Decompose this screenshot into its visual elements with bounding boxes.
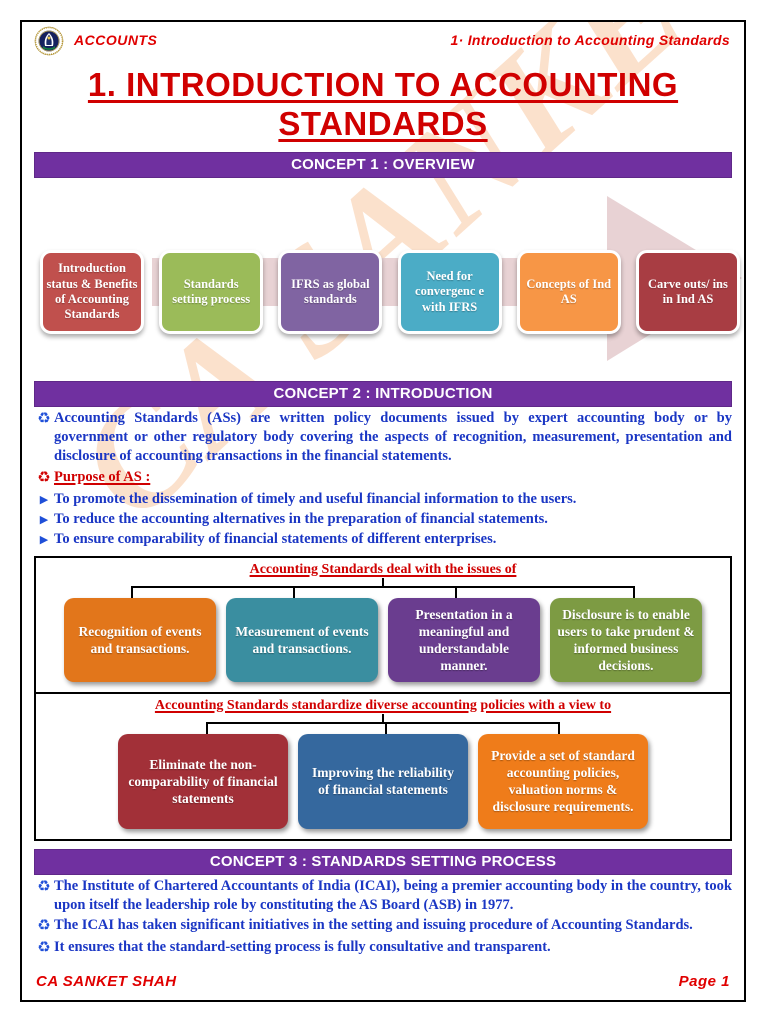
tree-box-label: Measurement of events and transactions. [233,623,371,657]
overview-box[interactable]: Concepts of Ind AS [517,250,621,334]
tree-box-row: Eliminate the non-comparability of finan… [36,734,730,839]
tree-connector [36,714,730,734]
page-frame: CA SANKET SHAH ACCOUNTS 1· Introduction … [20,20,746,1002]
tree-box-label: Eliminate the non-comparability of finan… [125,756,281,807]
overview-box[interactable]: Standards setting process [159,250,263,334]
overview-box[interactable]: IFRS as global standards [278,250,382,334]
list-item-text: To reduce the accounting alternatives in… [54,510,732,529]
tree-panel-issues: Accounting Standards deal with the issue… [34,556,732,694]
list-item: ♻ Purpose of AS : [34,468,732,489]
page-title-line2: STANDARDS [278,105,487,142]
tree-box[interactable]: Presentation in a meaningful and underst… [388,598,540,682]
overview-box-label: Introduction status & Benefits of Accoun… [46,261,138,322]
header-subject-label: ACCOUNTS [74,32,157,48]
tree-box-label: Disclosure is to enable users to take pr… [557,606,695,674]
page-title-line1: 1. INTRODUCTION TO ACCOUNTING [88,66,678,103]
tree-connector [36,578,730,598]
icai-logo-icon [34,26,64,56]
header-chapter-label: 1· Introduction to Accounting Standards [450,32,730,48]
list-item-text: Purpose of AS : [54,468,732,487]
tree-box[interactable]: Measurement of events and transactions. [226,598,378,682]
list-item-text: To promote the dissemination of timely a… [54,490,732,509]
tree-box-label: Recognition of events and transactions. [71,623,209,657]
list-item: ▶ To promote the dissemination of timely… [34,490,732,509]
overview-box-label: Need for convergenc e with IFRS [404,269,496,315]
pen-bullet-icon: ♻ [34,938,54,959]
overview-box-label: Standards setting process [165,277,257,308]
tree-box[interactable]: Eliminate the non-comparability of finan… [118,734,288,829]
page-content: ACCOUNTS 1· Introduction to Accounting S… [22,28,744,959]
list-item-text: The Institute of Chartered Accountants o… [54,877,732,916]
concept2-banner: CONCEPT 2 : INTRODUCTION [34,381,732,407]
list-item: ▶ To reduce the accounting alternatives … [34,510,732,529]
triangle-bullet-icon: ▶ [34,530,54,548]
list-item: ♻ It ensures that the standard-setting p… [34,938,732,959]
page-footer: CA SANKET SHAH Page 1 [36,973,730,990]
concept1-banner: CONCEPT 1 : OVERVIEW [34,152,732,178]
concept3-banner: CONCEPT 3 : STANDARDS SETTING PROCESS [34,849,732,875]
page-title: 1. INTRODUCTION TO ACCOUNTING STANDARDS [50,66,716,144]
list-item: ♻ The ICAI has taken significant initiat… [34,916,732,937]
tree-heading: Accounting Standards deal with the issue… [36,558,730,578]
list-item: ♻ The Institute of Chartered Accountants… [34,877,732,916]
concept3-text-block: ♻ The Institute of Chartered Accountants… [34,877,732,959]
overview-box[interactable]: Introduction status & Benefits of Accoun… [40,250,144,334]
pen-bullet-icon: ♻ [34,468,54,489]
overview-box[interactable]: Carve outs/ ins in Ind AS [636,250,740,334]
footer-page-number: Page 1 [679,973,730,990]
list-item-text: To ensure comparability of financial sta… [54,530,732,549]
tree-heading: Accounting Standards standardize diverse… [36,694,730,714]
page-header: ACCOUNTS 1· Introduction to Accounting S… [32,28,734,58]
pen-bullet-icon: ♻ [34,409,54,430]
tree-box-row: Recognition of events and transactions. … [36,598,730,692]
concept2-text-block: ♻ Accounting Standards (ASs) are written… [34,409,732,550]
tree-box-label: Presentation in a meaningful and underst… [395,606,533,674]
list-item: ♻ Accounting Standards (ASs) are written… [34,409,732,467]
tree-panel-policies: Accounting Standards standardize diverse… [34,694,732,841]
list-item-text: The ICAI has taken significant initiativ… [54,916,732,935]
tree-box[interactable]: Recognition of events and transactions. [64,598,216,682]
footer-author: CA SANKET SHAH [36,973,177,990]
triangle-bullet-icon: ▶ [34,490,54,508]
tree-box-label: Improving the reliability of financial s… [305,764,461,798]
list-item-text: It ensures that the standard-setting pro… [54,938,732,957]
tree-box[interactable]: Provide a set of standard accounting pol… [478,734,648,829]
list-item: ▶ To ensure comparability of financial s… [34,530,732,549]
overview-box-label: IFRS as global standards [284,277,376,308]
pen-bullet-icon: ♻ [34,877,54,898]
tree-box[interactable]: Disclosure is to enable users to take pr… [550,598,702,682]
pen-bullet-icon: ♻ [34,916,54,937]
overview-box[interactable]: Need for convergenc e with IFRS [398,250,502,334]
concept1-overview: Introduction status & Benefits of Accoun… [34,178,732,373]
overview-box-label: Concepts of Ind AS [523,277,615,308]
overview-box-label: Carve outs/ ins in Ind AS [642,277,734,308]
triangle-bullet-icon: ▶ [34,510,54,528]
concept1-box-row: Introduction status & Benefits of Accoun… [40,250,740,334]
tree-box-label: Provide a set of standard accounting pol… [485,747,641,815]
list-item-text: Accounting Standards (ASs) are written p… [54,409,732,467]
tree-box[interactable]: Improving the reliability of financial s… [298,734,468,829]
